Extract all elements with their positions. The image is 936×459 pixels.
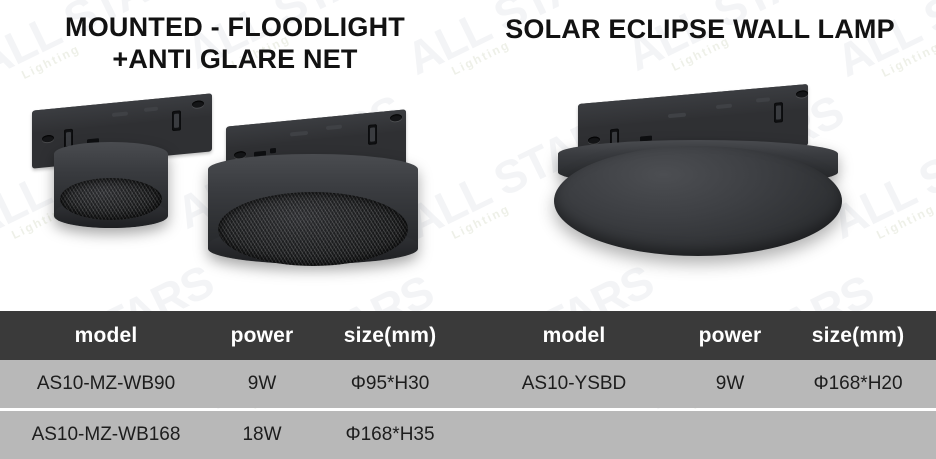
cell-size: Φ168*H35: [312, 424, 468, 446]
spec-table-header-row: model power size(mm) model power size(mm…: [0, 311, 936, 360]
cell-power: 18W: [212, 424, 312, 446]
bracket-tab: [716, 104, 732, 109]
bracket-tab: [756, 97, 770, 102]
cell-model: AS10-MZ-WB90: [0, 373, 212, 395]
column-header-model: model: [468, 324, 680, 348]
bracket-vent: [270, 148, 276, 154]
cell-power: 9W: [680, 373, 780, 395]
spec-table-right-row: AS10-YSBD 9W Φ168*H20: [468, 360, 936, 408]
table-row: AS10-MZ-WB90 9W Φ95*H30 AS10-YSBD 9W Φ16…: [0, 360, 936, 408]
product-image-floodlight-small: [24, 100, 224, 260]
spec-table-left-header: model power size(mm): [0, 311, 468, 360]
spec-table-left-row: AS10-MZ-WB168 18W Φ168*H35: [0, 411, 468, 459]
cell-power: 9W: [212, 373, 312, 395]
product-titles: MOUNTED - FLOODLIGHT +ANTI GLARE NET SOL…: [0, 0, 936, 92]
title-right-line1: SOLAR ECLIPSE WALL LAMP: [480, 14, 920, 46]
screw-hole: [192, 100, 204, 108]
bracket-tab: [290, 131, 308, 137]
spec-table-right-row: [468, 411, 936, 459]
page-title-right: SOLAR ECLIPSE WALL LAMP: [480, 14, 920, 46]
screw-hole: [588, 136, 600, 144]
screw-hole: [42, 135, 54, 143]
screw-hole: [390, 114, 402, 122]
column-header-size: size(mm): [312, 324, 468, 348]
column-header-power: power: [212, 324, 312, 348]
column-header-size: size(mm): [780, 324, 936, 348]
anti-glare-net-face: [218, 192, 408, 266]
cell-size: Φ168*H20: [780, 373, 936, 395]
product-image-stage: [0, 86, 936, 306]
title-left-line2: +ANTI GLARE NET: [20, 44, 450, 76]
page-title-left: MOUNTED - FLOODLIGHT +ANTI GLARE NET: [20, 12, 450, 76]
column-header-model: model: [0, 324, 212, 348]
bracket-tab: [112, 111, 128, 117]
bracket-tab: [144, 107, 158, 112]
table-row: AS10-MZ-WB168 18W Φ168*H35: [0, 411, 936, 459]
title-left-line1: MOUNTED - FLOODLIGHT: [20, 12, 450, 44]
bracket-tab: [668, 113, 686, 119]
eclipse-disc-face: [554, 146, 842, 256]
cell-size: Φ95*H30: [312, 373, 468, 395]
product-spec-sheet: ALL STARSLighting ALL STARSLighting ALL …: [0, 0, 936, 459]
bracket-slot: [368, 124, 377, 145]
product-image-floodlight-large: [198, 118, 448, 298]
bracket-slot: [774, 102, 783, 123]
bracket-slot: [172, 110, 181, 131]
spec-table-right-header: model power size(mm): [468, 311, 936, 360]
product-image-solar-eclipse-wall-lamp: [536, 88, 856, 278]
spec-table-left-row: AS10-MZ-WB90 9W Φ95*H30: [0, 360, 468, 408]
cell-model: AS10-YSBD: [468, 373, 680, 395]
anti-glare-net-face: [60, 178, 162, 220]
bracket-tab: [326, 124, 342, 130]
cell-model: AS10-MZ-WB168: [0, 424, 212, 446]
spec-tables: model power size(mm) model power size(mm…: [0, 311, 936, 459]
column-header-power: power: [680, 324, 780, 348]
